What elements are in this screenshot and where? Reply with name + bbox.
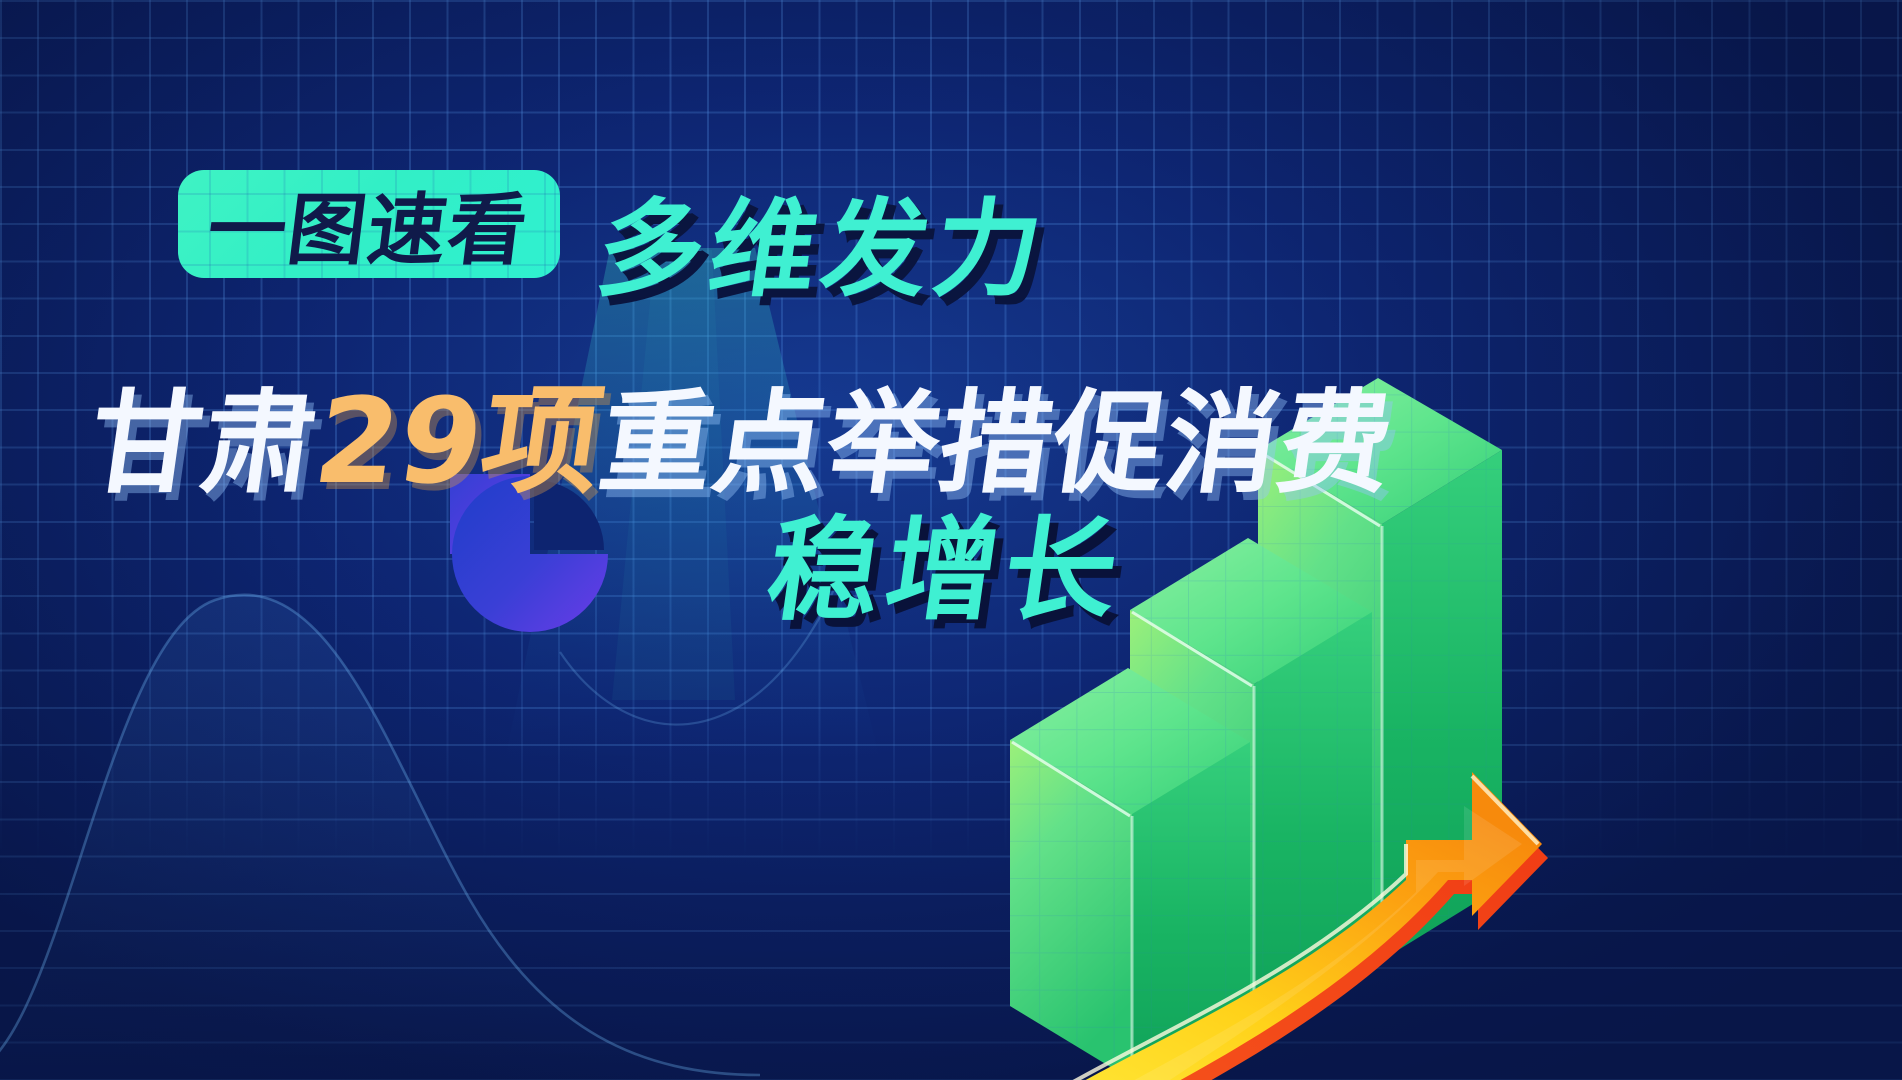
poster-canvas: 一图速看 多维发力 甘肃 29项 重点举措促消费 稳增长 — [0, 0, 1902, 1080]
main-headline: 甘肃 29项 重点举措促消费 — [80, 345, 1406, 516]
headline-province: 甘肃 — [80, 353, 329, 515]
sine-wave-icon — [0, 520, 860, 1080]
badge-label: 一图速看 — [178, 170, 560, 278]
subheadline-line1: 多维发力 — [589, 163, 1059, 317]
headline-badge: 一图速看 — [178, 170, 560, 278]
headline-measure-count: 29项 — [306, 345, 615, 516]
main-headline-line2: 稳增长 — [759, 480, 1136, 642]
